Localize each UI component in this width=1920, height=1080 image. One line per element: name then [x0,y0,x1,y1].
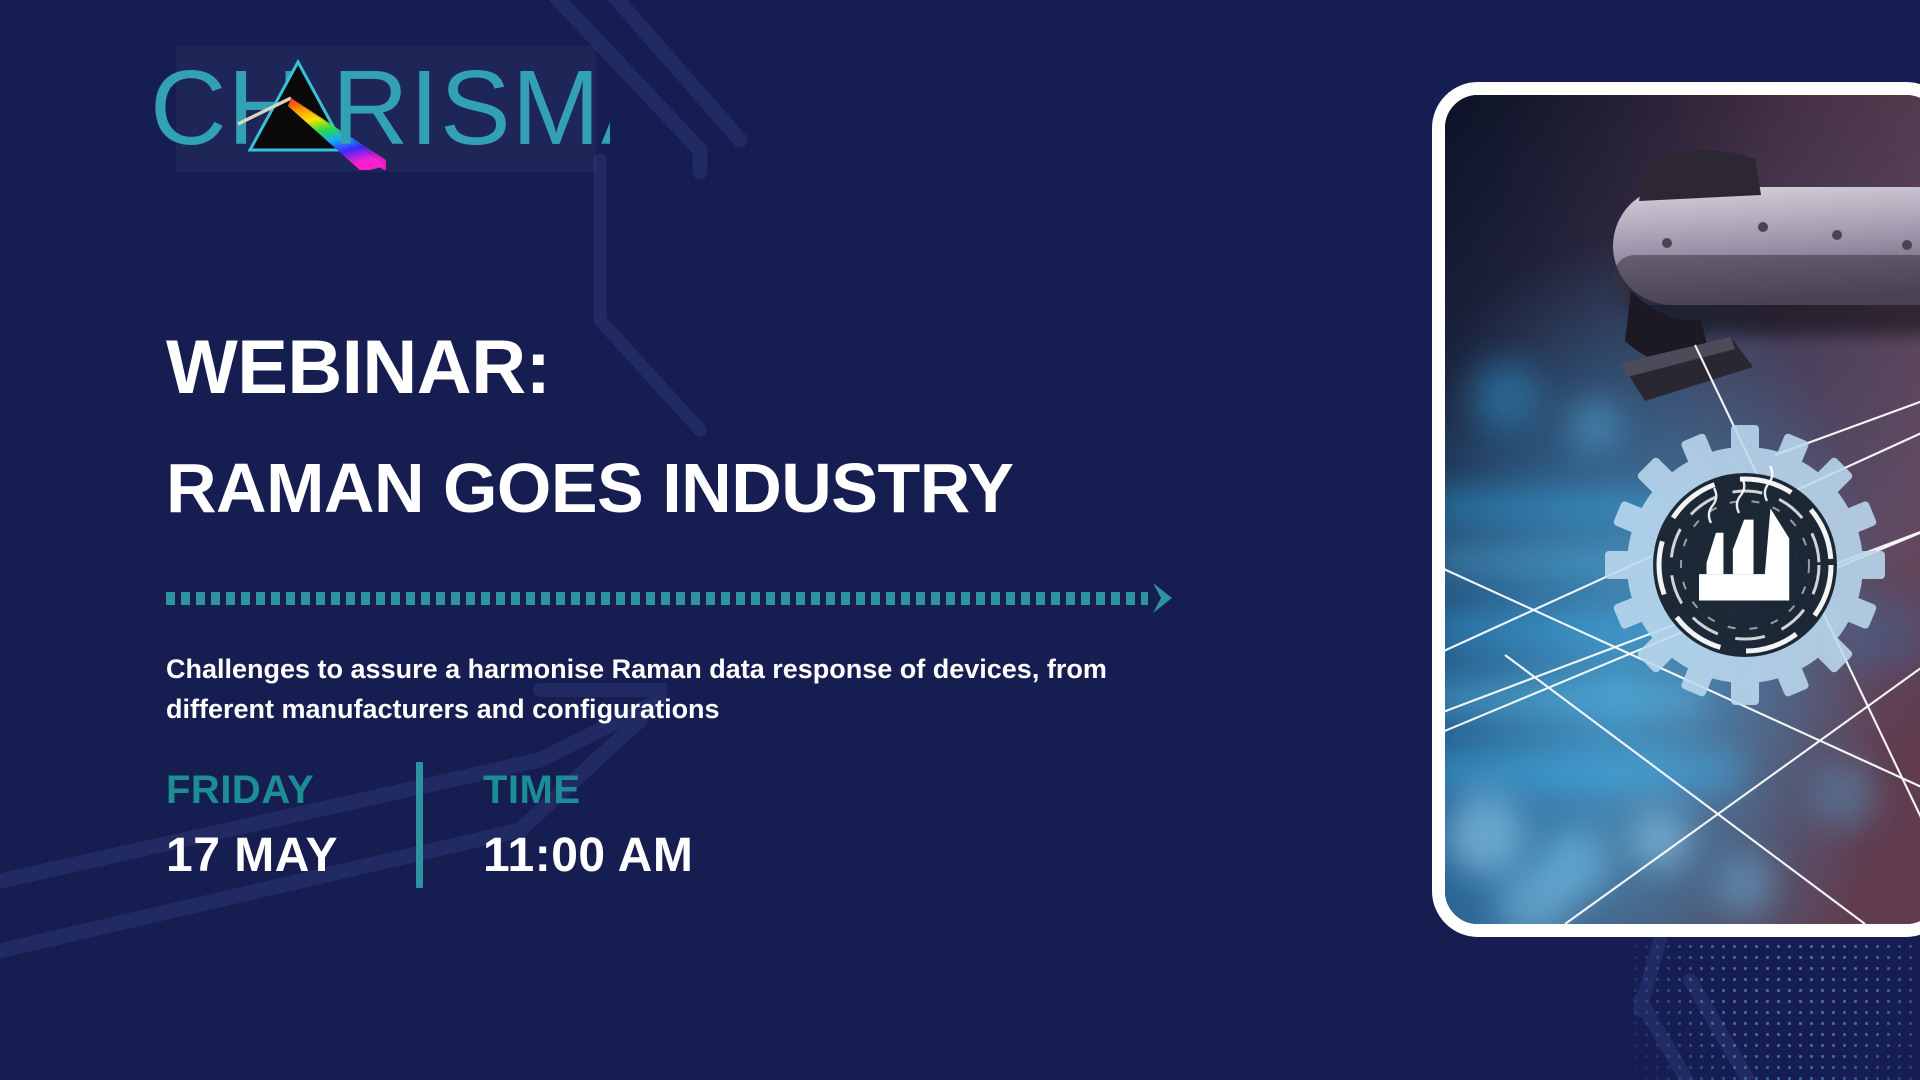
date-label: FRIDAY [166,770,416,810]
schedule-separator [416,762,423,888]
time-label: TIME [483,770,693,810]
robot-arm-photo [1445,95,1920,924]
date-value: 17 MAY [166,832,416,880]
charisma-logo: CH RISMA [150,48,610,170]
industrial-image-panel [1432,82,1920,937]
chevron-right-arrow-icon [1150,581,1176,615]
dashed-arrow-divider [166,583,1176,613]
schedule-block: FRIDAY 17 MAY TIME 11:00 AM [166,770,693,880]
headline-line-2: RAMAN GOES INDUSTRY [166,453,1013,523]
headline-line-1: WEBINAR: [166,330,550,406]
logo-text-risma: RISMA [332,49,610,167]
time-column: TIME 11:00 AM [423,770,693,880]
date-column: FRIDAY 17 MAY [166,770,416,880]
webinar-subtitle: Challenges to assure a harmonise Raman d… [166,650,1126,730]
time-value: 11:00 AM [483,832,693,880]
dashed-line [166,592,1148,605]
